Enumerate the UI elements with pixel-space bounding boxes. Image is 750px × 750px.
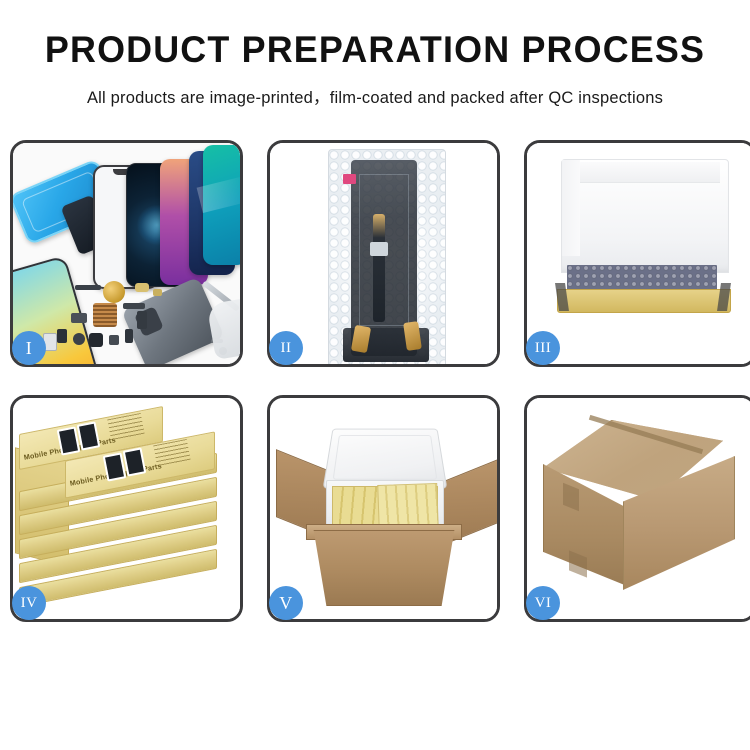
white-box-lid	[561, 159, 729, 273]
flex-cable	[373, 214, 385, 322]
bubble-wrap-bag	[328, 149, 446, 364]
part-module	[71, 313, 87, 323]
step-badge-4: IV	[12, 586, 46, 620]
bubble-wrap-illustration	[270, 143, 497, 364]
open-flat-box-illustration	[527, 143, 750, 364]
part-bracket	[57, 329, 67, 343]
step-badge-5: V	[269, 586, 303, 620]
part-chip-grid	[93, 303, 117, 327]
part-speaker	[73, 333, 85, 345]
part-flex-strip	[123, 303, 145, 309]
step-panel-6[interactable]: VI	[524, 395, 750, 622]
page-subtitle: All products are image-printed，film-coat…	[0, 84, 750, 108]
box-front-panel	[557, 289, 731, 313]
part-camera	[89, 333, 103, 347]
step-panel-5[interactable]: V	[267, 395, 500, 622]
step-panel-3[interactable]: III	[524, 140, 750, 367]
step-image-5	[270, 398, 497, 619]
part-ribbon	[75, 285, 101, 290]
carton-body	[304, 530, 464, 606]
part-button	[125, 329, 133, 343]
step-badge-3: III	[526, 331, 560, 365]
part-gold-clip	[153, 289, 162, 296]
part-sensor	[109, 335, 119, 345]
gold-coin-part	[103, 281, 125, 303]
step-image-2	[270, 143, 497, 364]
step-badge-2: II	[269, 331, 303, 365]
step-badge-1: I	[12, 331, 46, 365]
step-panel-4[interactable]: Mobile Phone Spare Parts Mobile Phone Sp…	[10, 395, 243, 622]
teal-gradient-phone	[203, 145, 240, 265]
part-frame-piece	[137, 311, 147, 329]
step-image-3	[527, 143, 750, 364]
step-badge-6: VI	[526, 586, 560, 620]
process-steps-grid: I II	[10, 140, 740, 622]
stacked-boxes-illustration: Mobile Phone Spare Parts Mobile Phone Sp…	[13, 398, 240, 619]
pink-qc-label	[343, 174, 356, 184]
carton-with-foam-illustration	[270, 398, 497, 619]
sealed-carton-illustration	[527, 398, 750, 619]
page-header: PRODUCT PREPARATION PROCESS All products…	[0, 0, 750, 108]
gold-connector-right	[403, 321, 422, 351]
step-panel-2[interactable]: II	[267, 140, 500, 367]
page-title: PRODUCT PREPARATION PROCESS	[11, 30, 739, 71]
flex-chip	[370, 242, 388, 256]
step-image-6	[527, 398, 750, 619]
phone-parts-illustration	[13, 143, 240, 364]
step-image-1	[13, 143, 240, 364]
step-image-4: Mobile Phone Spare Parts Mobile Phone Sp…	[13, 398, 240, 619]
step-panel-1[interactable]: I	[10, 140, 243, 367]
part-gold-connector	[135, 283, 149, 292]
